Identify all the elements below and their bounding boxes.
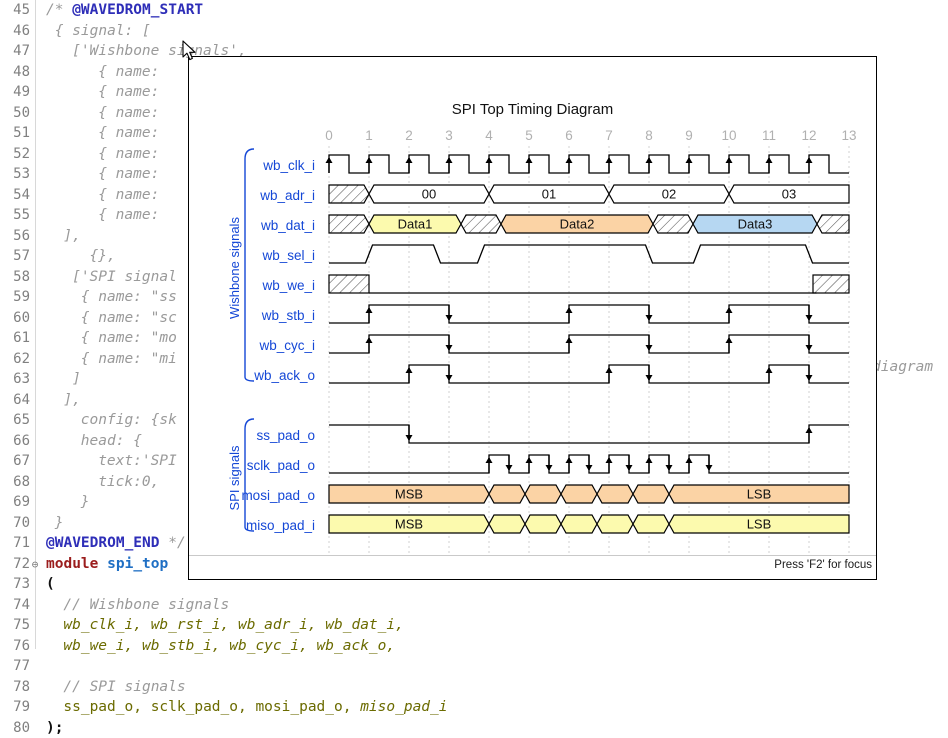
tick-label: 1: [365, 128, 373, 143]
line-number: 55: [0, 205, 30, 226]
falling-edge-arrow-icon: [806, 365, 813, 381]
line-number: 58: [0, 267, 30, 288]
bus-segment: [489, 515, 525, 533]
rising-edge-arrow-icon: [726, 157, 733, 173]
tick-label: 9: [685, 128, 693, 143]
code-line[interactable]: 75wb_clk_i, wb_rst_i, wb_adr_i, wb_dat_i…: [0, 615, 948, 636]
code-text: (: [40, 574, 55, 595]
bus-value-label: LSB: [747, 517, 772, 532]
bus-value-label: 02: [662, 187, 676, 202]
line-number: 49: [0, 82, 30, 103]
code-text: { name: "ss: [40, 287, 177, 308]
rising-edge-arrow-icon: [606, 367, 613, 383]
falling-edge-arrow-icon: [806, 335, 813, 351]
code-line[interactable]: 74// Wishbone signals: [0, 595, 948, 616]
signal-label-mosi_pad_o: mosi_pad_o: [241, 488, 315, 503]
line-number: 56: [0, 226, 30, 247]
line-number: 48: [0, 62, 30, 83]
falling-edge-arrow-icon: [646, 305, 653, 321]
falling-edge-arrow-icon: [646, 335, 653, 351]
line-number: 72: [0, 554, 30, 575]
code-text: ['SPI signal: [40, 267, 177, 288]
code-line[interactable]: 45/* @WAVEDROM_START: [0, 0, 948, 21]
right-margin-comment: diagram: [872, 359, 933, 375]
falling-edge-arrow-icon: [446, 335, 453, 351]
rising-edge-arrow-icon: [646, 457, 653, 473]
group-label: SPI signals: [227, 445, 242, 511]
falling-edge-arrow-icon: [806, 305, 813, 321]
falling-edge-arrow-icon: [586, 455, 593, 471]
tick-label: 0: [325, 128, 333, 143]
code-text: module spi_top: [40, 554, 168, 575]
tick-label: 3: [445, 128, 453, 143]
signal-label-sclk_pad_o: sclk_pad_o: [247, 458, 315, 473]
tick-label: 7: [605, 128, 613, 143]
tick-label: 11: [762, 128, 776, 143]
code-text: ]: [40, 369, 81, 390]
tick-label: 5: [525, 128, 533, 143]
signal-label-wb_ack_o: wb_ack_o: [253, 368, 315, 383]
code-text: { name: "mi: [40, 349, 177, 370]
rising-edge-arrow-icon: [566, 457, 573, 473]
line-number: 62: [0, 349, 30, 370]
code-text: { name:: [40, 62, 159, 83]
line-number: 63: [0, 369, 30, 390]
code-text: { name:: [40, 123, 159, 144]
code-line[interactable]: 46{ signal: [: [0, 21, 948, 42]
bus-segment: [461, 215, 501, 233]
rising-edge-arrow-icon: [686, 457, 693, 473]
rising-edge-arrow-icon: [726, 337, 733, 353]
group-bracket: [245, 149, 254, 381]
group-bracket: [245, 419, 254, 531]
code-line[interactable]: 77: [0, 656, 948, 677]
line-number: 61: [0, 328, 30, 349]
code-text: /* @WAVEDROM_START: [40, 0, 203, 21]
rising-edge-arrow-icon: [526, 457, 533, 473]
bus-value-label: Data2: [560, 217, 595, 232]
rising-edge-arrow-icon: [726, 307, 733, 323]
code-text: }: [40, 492, 90, 513]
rising-edge-arrow-icon: [526, 157, 533, 173]
fold-toggle-icon[interactable]: ⊖: [30, 555, 40, 576]
code-text: wb_clk_i, wb_rst_i, wb_adr_i, wb_dat_i,: [40, 615, 404, 636]
rising-edge-arrow-icon: [446, 157, 453, 173]
rising-edge-arrow-icon: [486, 457, 493, 473]
code-line[interactable]: 79ss_pad_o, sclk_pad_o, mosi_pad_o, miso…: [0, 697, 948, 718]
bus-segment: [633, 515, 669, 533]
code-text: { signal: [: [40, 21, 151, 42]
rising-edge-arrow-icon: [486, 157, 493, 173]
code-text: { name:: [40, 185, 159, 206]
signal-label-ss_pad_o: ss_pad_o: [256, 428, 315, 443]
line-number: 67: [0, 451, 30, 472]
falling-edge-arrow-icon: [506, 455, 513, 471]
line-number: 52: [0, 144, 30, 165]
line-number: 51: [0, 123, 30, 144]
tick-label: 2: [405, 128, 413, 143]
line-number: 45: [0, 0, 30, 21]
bus-segment: [597, 515, 633, 533]
code-text: ],: [40, 390, 81, 411]
rising-edge-arrow-icon: [566, 307, 573, 323]
code-text: ],: [40, 226, 81, 247]
code-text: config: {sk: [40, 410, 177, 431]
line-number: 69: [0, 492, 30, 513]
code-text: { name:: [40, 164, 159, 185]
falling-edge-arrow-icon: [646, 365, 653, 381]
code-text: wb_we_i, wb_stb_i, wb_cyc_i, wb_ack_o,: [40, 636, 395, 657]
bus-value-label: Data3: [738, 217, 773, 232]
signal-label-wb_sel_i: wb_sel_i: [261, 248, 315, 263]
tick-label: 8: [645, 128, 653, 143]
tick-label: 6: [565, 128, 573, 143]
wavedrom-preview-panel[interactable]: SPI Top Timing Diagram 01234567891011121…: [188, 56, 877, 580]
bus-value-label: MSB: [395, 517, 423, 532]
bus-segment: [597, 485, 633, 503]
line-number: 73: [0, 574, 30, 595]
bus-segment: [525, 485, 561, 503]
line-number: 47: [0, 41, 30, 62]
bus-segment: [489, 485, 525, 503]
code-text: { name:: [40, 144, 159, 165]
falling-edge-arrow-icon: [666, 455, 673, 471]
line-number: 59: [0, 287, 30, 308]
line-number: 70: [0, 513, 30, 534]
rising-edge-arrow-icon: [606, 157, 613, 173]
code-text: { name: "mo: [40, 328, 177, 349]
timing-waveform-svg: 012345678910111213wb_clk_iwb_adr_i000102…: [189, 57, 878, 557]
line-number: 53: [0, 164, 30, 185]
bus-value-label: 00: [422, 187, 436, 202]
code-text: { name:: [40, 82, 159, 103]
code-line[interactable]: 78// SPI signals: [0, 677, 948, 698]
signal-label-miso_pad_i: miso_pad_i: [246, 518, 315, 533]
tick-label: 4: [485, 128, 493, 143]
line-number: 46: [0, 21, 30, 42]
signal-label-wb_dat_i: wb_dat_i: [260, 218, 315, 233]
code-text: { name:: [40, 103, 159, 124]
line-number: 68: [0, 472, 30, 493]
signal-label-wb_we_i: wb_we_i: [261, 278, 315, 293]
code-text: text:'SPI: [40, 451, 177, 472]
line-number: 71: [0, 533, 30, 554]
line-number: 77: [0, 656, 30, 677]
focus-hint-text: Press 'F2' for focus: [774, 559, 872, 571]
line-number: 66: [0, 431, 30, 452]
tick-label: 12: [801, 128, 816, 143]
bus-segment: [653, 215, 693, 233]
bus-value-label: 03: [782, 187, 796, 202]
code-text: { name: "sc: [40, 308, 177, 329]
rising-edge-arrow-icon: [406, 157, 413, 173]
rising-edge-arrow-icon: [646, 157, 653, 173]
code-line[interactable]: 80);: [0, 718, 948, 738]
rising-edge-arrow-icon: [366, 337, 373, 353]
bus-segment: [329, 215, 369, 233]
code-text: }: [40, 513, 63, 534]
code-text: head: {: [40, 431, 142, 452]
tick-label: 10: [721, 128, 736, 143]
tick-label: 13: [841, 128, 856, 143]
line-number: 75: [0, 615, 30, 636]
line-number: 65: [0, 410, 30, 431]
signal-label-wb_cyc_i: wb_cyc_i: [258, 338, 315, 353]
code-text: // SPI signals: [40, 677, 186, 698]
line-number: 74: [0, 595, 30, 616]
code-text: tick:0,: [40, 472, 159, 493]
falling-edge-arrow-icon: [406, 425, 413, 441]
rising-edge-arrow-icon: [606, 457, 613, 473]
rising-edge-arrow-icon: [766, 367, 773, 383]
bus-value-label: MSB: [395, 487, 423, 502]
falling-edge-arrow-icon: [446, 365, 453, 381]
line-number: 78: [0, 677, 30, 698]
code-text: );: [40, 718, 63, 738]
timing-diagram-canvas[interactable]: 012345678910111213wb_clk_iwb_adr_i000102…: [189, 57, 878, 557]
signal-label-wb_adr_i: wb_adr_i: [259, 188, 315, 203]
line-number: 76: [0, 636, 30, 657]
bus-value-label: 01: [542, 187, 556, 202]
bus-value-label: LSB: [747, 487, 772, 502]
falling-edge-arrow-icon: [626, 455, 633, 471]
code-text: ss_pad_o, sclk_pad_o, mosi_pad_o, miso_p…: [40, 697, 448, 718]
line-number: 57: [0, 246, 30, 267]
rising-edge-arrow-icon: [366, 157, 373, 173]
group-label: Wishbone signals: [227, 217, 242, 319]
code-text: // Wishbone signals: [40, 595, 229, 616]
line-number: 54: [0, 185, 30, 206]
line-number: 80: [0, 718, 30, 738]
bus-segment: [329, 185, 369, 203]
line-number: 50: [0, 103, 30, 124]
bus-segment: [633, 485, 669, 503]
line-number: 64: [0, 390, 30, 411]
bus-segment: [525, 515, 561, 533]
code-text: {},: [40, 246, 116, 267]
code-line[interactable]: 76wb_we_i, wb_stb_i, wb_cyc_i, wb_ack_o,: [0, 636, 948, 657]
signal-label-wb_stb_i: wb_stb_i: [261, 308, 315, 323]
mouse-cursor-icon: [182, 40, 198, 62]
bus-segment: [817, 215, 849, 233]
bus-segment: [561, 485, 597, 503]
panel-status-bar: Press 'F2' for focus: [189, 555, 876, 579]
rising-edge-arrow-icon: [406, 367, 413, 383]
rising-edge-arrow-icon: [326, 157, 333, 173]
line-number: 60: [0, 308, 30, 329]
rising-edge-arrow-icon: [566, 157, 573, 173]
code-text: @WAVEDROM_END */: [40, 533, 186, 554]
line-number: 79: [0, 697, 30, 718]
falling-edge-arrow-icon: [706, 455, 713, 471]
falling-edge-arrow-icon: [546, 455, 553, 471]
rising-edge-arrow-icon: [686, 157, 693, 173]
bus-segment: [561, 515, 597, 533]
rising-edge-arrow-icon: [806, 157, 813, 173]
rising-edge-arrow-icon: [806, 427, 813, 443]
bus-value-label: Data1: [398, 217, 433, 232]
falling-edge-arrow-icon: [446, 305, 453, 321]
signal-label-wb_clk_i: wb_clk_i: [262, 158, 315, 173]
rising-edge-arrow-icon: [566, 337, 573, 353]
code-text: { name:: [40, 205, 159, 226]
rising-edge-arrow-icon: [366, 307, 373, 323]
rising-edge-arrow-icon: [766, 157, 773, 173]
